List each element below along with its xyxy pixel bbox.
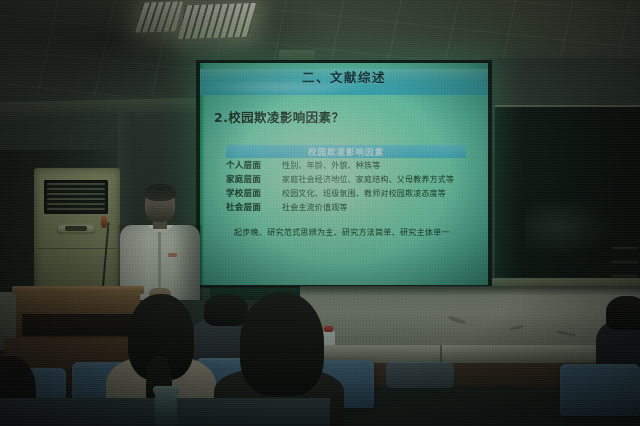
- table-cell-factors: 社会主流价值观等: [282, 202, 466, 213]
- water-bottle-cap: [324, 326, 333, 332]
- table-cell-level: 家庭层面: [226, 173, 282, 185]
- table-row: 社会层面 社会主流价值观等: [226, 200, 466, 214]
- table-cell-factors: 性别、年龄、外貌、种族等: [282, 160, 466, 171]
- slide-table-header: 校园欺凌影响因素: [226, 145, 466, 158]
- podium-shelf-recess: [22, 314, 134, 336]
- table-row: 个人层面 性别、年龄、外貌、种族等: [226, 158, 466, 172]
- table-cell-level: 个人层面: [226, 159, 282, 171]
- presenter-pocket-badge: [168, 253, 177, 257]
- table-cell-level: 社会层面: [226, 201, 282, 213]
- chair-back[interactable]: [560, 364, 640, 416]
- blackboard: [495, 105, 640, 282]
- table-row: 家庭层面 家庭社会经济地位、家庭结构、父母教养方式等: [226, 172, 466, 186]
- table-cell-factors: 家庭社会经济地位、家庭结构、父母教养方式等: [282, 174, 466, 185]
- projection-screen: 二、文献综述 2.校园欺凌影响因素？ 校园欺凌影响因素 个人层面 性别、年龄、外…: [200, 63, 488, 285]
- projection-screen-frame: 二、文献综述 2.校园欺凌影响因素？ 校园欺凌影响因素 个人层面 性别、年龄、外…: [196, 60, 492, 288]
- slide-question: 2.校园欺凌影响因素？: [214, 107, 344, 126]
- air-conditioner-grille: [44, 180, 108, 214]
- presenter-hair: [144, 184, 176, 201]
- slide-table: 校园欺凌影响因素 个人层面 性别、年龄、外貌、种族等 家庭层面 家庭社会经济地位…: [226, 145, 466, 214]
- front-low-wall-top-shadow: [300, 286, 640, 296]
- travel-cup: [155, 390, 177, 426]
- table-cell-level: 学校层面: [226, 187, 282, 199]
- audience-member-3-hair: [240, 292, 324, 396]
- classroom-photo: 二、文献综述 2.校园欺凌影响因素？ 校园欺凌影响因素 个人层面 性别、年龄、外…: [0, 0, 640, 426]
- table-cell-factors: 校园文化、班级氛围、教师对校园欺凌态度等: [282, 188, 466, 199]
- chalk-smudge: [525, 197, 615, 257]
- presenter-face-shadow: [147, 200, 173, 222]
- air-conditioner-control-panel: [56, 224, 96, 234]
- gooseneck-microphone-head: [101, 216, 107, 228]
- table-row: 学校层面 校园文化、班级氛围、教师对校园欺凌态度等: [226, 186, 466, 200]
- slide-summary-note: 起步晚、研究范式思辨为主、研究方法简单、研究主体单一: [234, 227, 450, 238]
- desk-rail-seam: [440, 345, 442, 363]
- chair-back[interactable]: [386, 362, 454, 388]
- audience-member-4-hair: [606, 296, 640, 330]
- slide-title: 二、文献综述: [200, 63, 488, 89]
- audience-member-2-hair: [204, 294, 248, 326]
